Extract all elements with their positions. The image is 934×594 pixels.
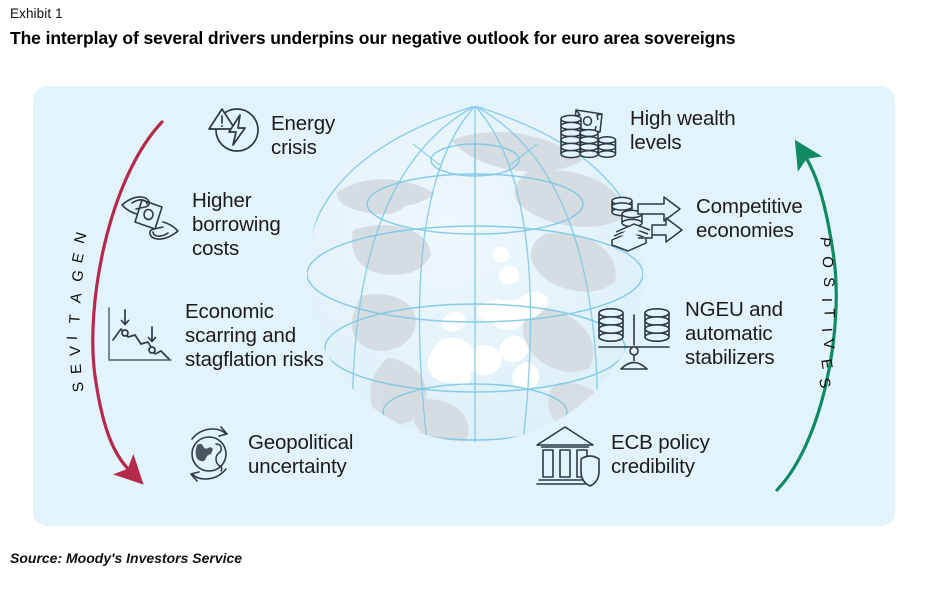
neg-letter: V (67, 345, 84, 356)
driver-label: Higher borrowing costs (192, 189, 281, 260)
coin-stacks-note-icon (558, 102, 620, 164)
pos-letter: E (817, 358, 835, 371)
driver-label: Geopolitical uncertainty (248, 431, 353, 479)
balance-scale-icon (593, 301, 675, 373)
money-arrows-icon (608, 192, 688, 262)
pos-letter: S (820, 277, 837, 289)
globe-arrows-icon (178, 423, 240, 485)
neg-letter: I (64, 335, 81, 341)
driver-energy-crisis: Energy crisis (205, 100, 335, 160)
pos-letter: I (818, 327, 835, 333)
pos-letter: P (815, 236, 833, 249)
page-title: The interplay of several drivers underpi… (10, 28, 735, 49)
driver-ngeu-automatic-stabilizers: NGEU and automatic stabilizers (593, 301, 783, 373)
neg-letter: T (66, 313, 84, 324)
neg-letter: G (69, 268, 88, 283)
pos-letter: V (819, 338, 837, 351)
driver-geopolitical-uncertainty: Geopolitical uncertainty (178, 423, 353, 485)
driver-label: ECB policy credibility (611, 431, 710, 479)
driver-high-wealth-levels: High wealth levels (558, 102, 735, 164)
source-note: Source: Moody's Investors Service (10, 550, 242, 566)
driver-label: Economic scarring and stagflation risks (185, 300, 324, 371)
driver-competitive-economies: Competitive economies (608, 192, 803, 262)
hands-banknote-icon (118, 187, 182, 247)
driver-label: Competitive economies (696, 195, 803, 243)
driver-label: Energy crisis (271, 112, 335, 160)
exhibit-label: Exhibit 1 (10, 6, 63, 21)
energy-warning-icon (205, 100, 261, 156)
neg-letter: E (69, 250, 88, 265)
neg-letter: E (68, 362, 86, 374)
pos-letter: T (820, 308, 837, 319)
neg-letter: S (69, 380, 87, 393)
neg-letter: N (71, 229, 91, 245)
negatives-arc (93, 122, 162, 471)
declining-chart-icon (103, 302, 175, 372)
driver-label: High wealth levels (630, 107, 735, 155)
pos-letter: S (815, 376, 834, 390)
neg-letter: A (67, 291, 85, 304)
pos-letter: O (818, 256, 836, 270)
pos-letter: I (818, 298, 835, 303)
driver-label: NGEU and automatic stabilizers (685, 298, 783, 369)
diagram-panel: N E G A T I V E S P O S I T I V E S Ener… (33, 86, 895, 526)
driver-ecb-policy-credibility: ECB policy credibility (533, 423, 710, 489)
bank-shield-icon (533, 423, 601, 489)
driver-higher-borrowing-costs: Higher borrowing costs (118, 187, 281, 260)
driver-economic-scarring: Economic scarring and stagflation risks (103, 302, 324, 372)
